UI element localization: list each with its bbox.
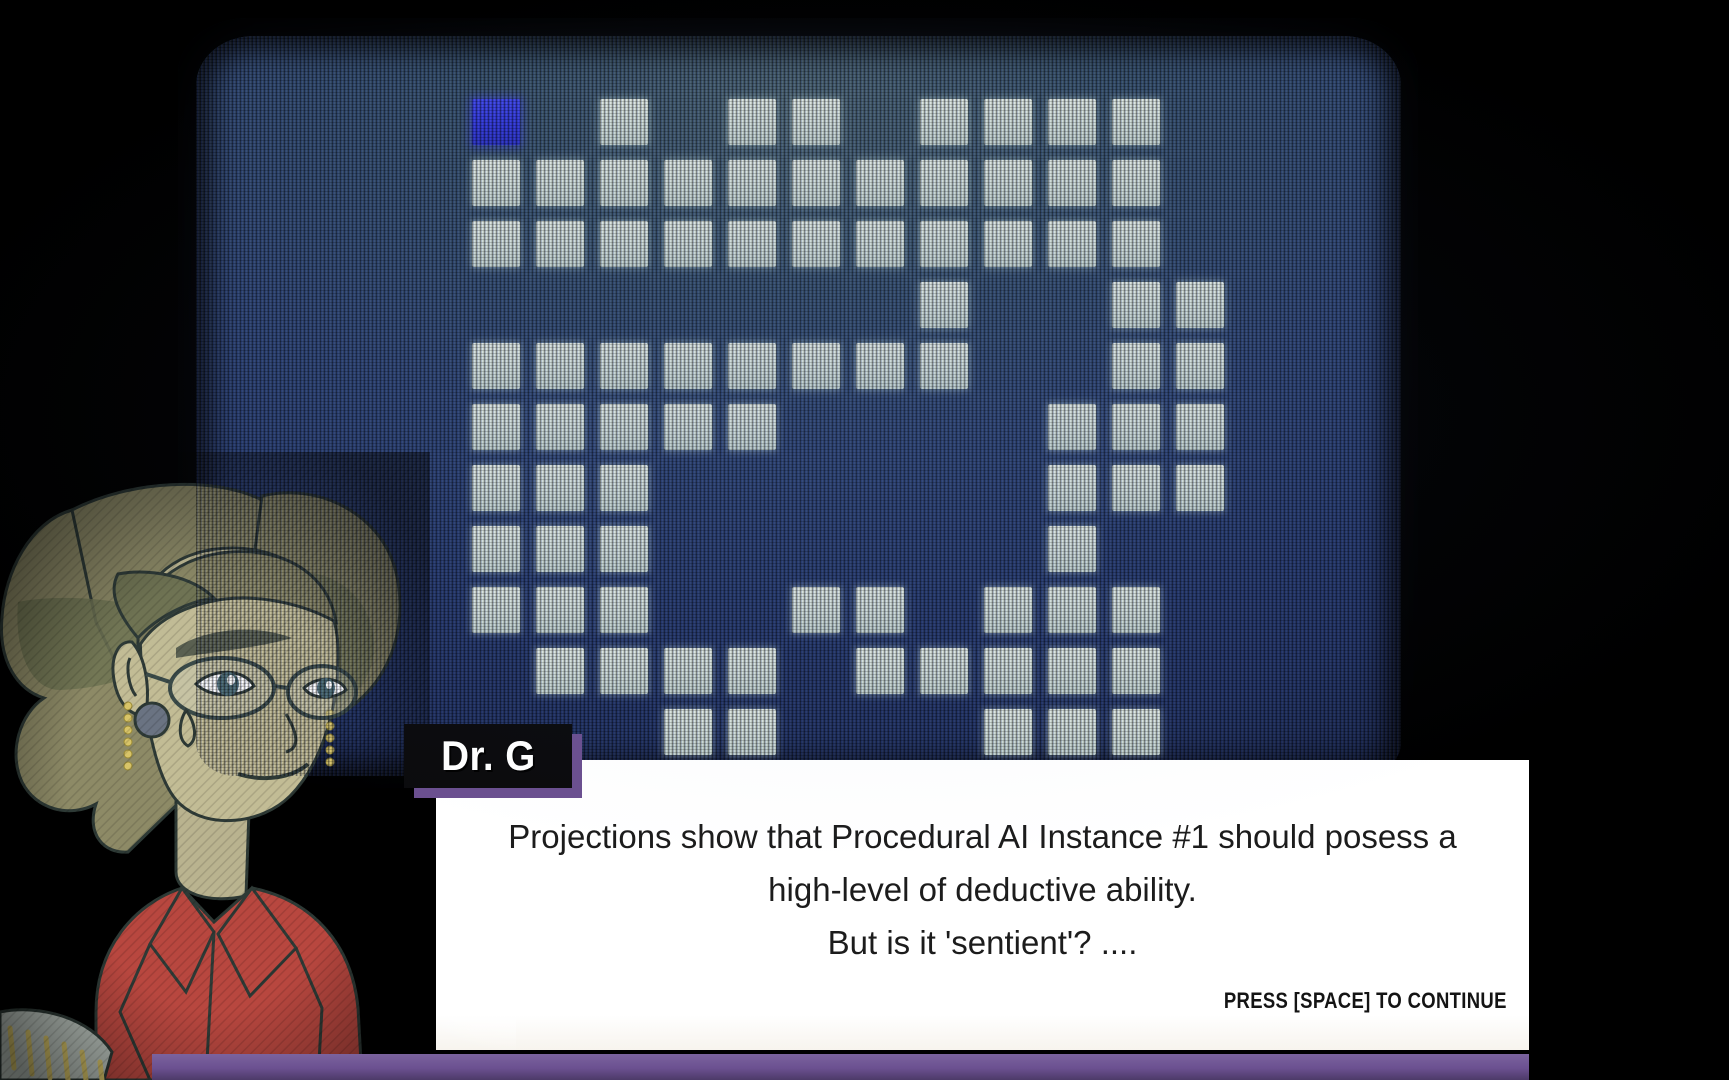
grid-cell-block [1048,587,1096,633]
grid-cell-empty [848,458,912,519]
grid-cell-block [600,526,648,572]
grid-cell-empty [848,275,912,336]
grid-cell-lit [784,214,848,275]
grid-cell-lit [464,458,528,519]
grid-cell-block [1112,99,1160,145]
grid-cell-lit [528,641,592,702]
grid-cell-lit [784,153,848,214]
grid-cell-empty [1232,580,1296,641]
grid-cell-block [728,221,776,267]
grid-cell-lit [592,397,656,458]
grid-cell-block [600,99,648,145]
grid-cell-lit [976,702,1040,763]
grid-cell-lit [592,641,656,702]
grid-cell-lit [1104,702,1168,763]
grid-cell-block [1048,160,1096,206]
grid-cell-empty [784,641,848,702]
grid-cell-lit [528,580,592,641]
grid-cell-empty [656,519,720,580]
grid-cell-empty [848,397,912,458]
grid-cell-empty [1232,397,1296,458]
grid-cell-block [1176,282,1224,328]
block-grid-display [464,92,1296,763]
grid-cell-empty [848,519,912,580]
grid-cell-lit [912,641,976,702]
grid-cell-lit [1104,275,1168,336]
grid-cell-block [1112,160,1160,206]
grid-cell-block [984,587,1032,633]
grid-cell-empty [656,275,720,336]
press-space-to-continue-prompt[interactable]: PRESS [SPACE] TO CONTINUE [1224,988,1507,1014]
grid-cell-lit [1168,275,1232,336]
grid-cell-empty [720,275,784,336]
grid-cell-lit [464,519,528,580]
grid-cell-lit [720,702,784,763]
grid-cell-lit [848,336,912,397]
grid-cell-block [1112,343,1160,389]
grid-cell-block [536,343,584,389]
grid-cell-empty [592,702,656,763]
grid-cell-empty [720,458,784,519]
grid-cell-lit [784,580,848,641]
grid-cell-block [472,160,520,206]
grid-cell-lit [528,458,592,519]
grid-cell-lit [784,336,848,397]
dialogue-line-3: But is it 'sentient'? .... [466,916,1499,969]
grid-cell-lit [1040,458,1104,519]
grid-cell-empty [1232,153,1296,214]
grid-cell-empty [720,580,784,641]
grid-cell-block [792,343,840,389]
grid-cell-lit [592,336,656,397]
grid-cell-block [792,160,840,206]
grid-cell-block [664,343,712,389]
grid-cell-lit [528,397,592,458]
grid-cell-block [1176,465,1224,511]
grid-cell-block [472,465,520,511]
grid-cell-lit [976,92,1040,153]
grid-cell-empty [784,397,848,458]
grid-cell-block [792,99,840,145]
grid-cell-empty [1232,702,1296,763]
grid-cell-lit [1040,641,1104,702]
grid-cell-lit [1040,153,1104,214]
grid-cell-empty [784,458,848,519]
grid-cell-block [1048,465,1096,511]
grid-cell-lit [528,214,592,275]
grid-cell-lit [720,153,784,214]
accent-bar-bottom [436,1054,1529,1080]
grid-cell-lit [1168,397,1232,458]
grid-cell-empty [464,275,528,336]
grid-cell-block [536,221,584,267]
grid-cell-block [1112,221,1160,267]
grid-cell-block [856,648,904,694]
grid-cell-empty [848,92,912,153]
grid-cell-empty [464,641,528,702]
grid-cell-lit [1040,580,1104,641]
grid-cell-block [984,648,1032,694]
grid-cell-block [664,221,712,267]
grid-cell-lit [528,336,592,397]
grid-cell-empty [976,458,1040,519]
grid-cell-block [920,648,968,694]
grid-cell-block [600,404,648,450]
grid-cell-lit [592,214,656,275]
grid-cell-block [920,160,968,206]
grid-cell-block [920,282,968,328]
grid-cell-lit [1168,336,1232,397]
grid-cell-lit [592,580,656,641]
grid-cell-empty [912,458,976,519]
grid-cell-empty [1104,519,1168,580]
grid-cell-block [1048,526,1096,572]
grid-cell-block [728,160,776,206]
grid-cell-lit [720,92,784,153]
grid-cell-empty [1040,275,1104,336]
grid-cell-lit [976,641,1040,702]
grid-cell-empty [1232,92,1296,153]
grid-cell-lit [464,214,528,275]
grid-cell-lit [1040,92,1104,153]
grid-cell-empty [976,397,1040,458]
grid-cell-lit [656,397,720,458]
grid-cell-lit [464,580,528,641]
grid-cell-block [536,648,584,694]
grid-cell-empty [976,519,1040,580]
grid-cell-lit [464,336,528,397]
grid-cell-block [984,709,1032,755]
grid-cell-lit [592,92,656,153]
grid-cell-block [600,465,648,511]
grid-cell-lit [1040,519,1104,580]
grid-cell-block [664,160,712,206]
grid-cell-empty [976,336,1040,397]
game-scene: Projections show that Procedural AI Inst… [0,0,1729,1080]
grid-cell-lit [1104,92,1168,153]
grid-cell-lit [976,580,1040,641]
grid-cell-empty [656,92,720,153]
grid-cell-lit [656,641,720,702]
grid-cell-empty [656,580,720,641]
grid-cell-lit [1040,702,1104,763]
grid-cell-block [728,343,776,389]
grid-cell-empty [1232,275,1296,336]
grid-cell-block [600,221,648,267]
grid-cell-block [536,404,584,450]
grid-cell-lit [912,336,976,397]
grid-cell-block [472,587,520,633]
grid-cell-lit [784,92,848,153]
grid-cell-lit [1104,214,1168,275]
grid-cell-block [984,99,1032,145]
grid-cell-block [1112,465,1160,511]
grid-cell-block [1048,221,1096,267]
grid-cell-lit [1168,458,1232,519]
grid-cell-block [1048,709,1096,755]
grid-cell-empty [656,458,720,519]
grid-cell-block [664,709,712,755]
grid-cell-block [1048,648,1096,694]
grid-cell-block [1112,587,1160,633]
grid-cell-empty [1232,458,1296,519]
grid-cell-block [728,648,776,694]
grid-cell-block [984,160,1032,206]
grid-cell-empty [912,519,976,580]
dialogue-text: Projections show that Procedural AI Inst… [436,810,1529,969]
grid-cell-lit [464,153,528,214]
grid-cell-lit [464,397,528,458]
grid-cell-lit [592,153,656,214]
grid-cell-lit [912,92,976,153]
grid-cell-lit [720,336,784,397]
grid-cell-block [920,99,968,145]
grid-cell-empty [592,275,656,336]
grid-cell-block [984,221,1032,267]
grid-cell-lit [912,275,976,336]
grid-cell-lit [848,153,912,214]
grid-cell-block [536,587,584,633]
grid-cell-block [856,587,904,633]
grid-cell-block [728,404,776,450]
grid-cell-block [600,648,648,694]
grid-cell-lit [592,458,656,519]
speaker-name-label: Dr. G [441,732,536,780]
grid-cell-block [536,465,584,511]
grid-cell-empty [784,275,848,336]
grid-cell-lit [912,153,976,214]
grid-cell-block [920,343,968,389]
grid-cell-empty [1168,519,1232,580]
grid-cell-lit [1104,458,1168,519]
grid-cell-lit [848,580,912,641]
grid-cell-empty [1168,153,1232,214]
grid-cell-empty [784,702,848,763]
grid-cell-empty [1168,641,1232,702]
grid-cell-lit [656,336,720,397]
grid-cell-block [472,221,520,267]
speaker-nameplate: Dr. G [404,724,572,788]
grid-cell-lit [1104,153,1168,214]
grid-cell-highlighted [464,92,528,153]
grid-cell-empty [1168,580,1232,641]
grid-cell-empty [912,580,976,641]
grid-cell-empty [1168,92,1232,153]
grid-cell-lit [528,519,592,580]
grid-cell-empty [848,702,912,763]
grid-cell-lit [1040,214,1104,275]
grid-cell-block [920,221,968,267]
dialogue-line-2: high-level of deductive ability. [466,863,1499,916]
grid-cell-block [856,160,904,206]
grid-cell-block [536,160,584,206]
grid-cell-empty [912,397,976,458]
grid-cell-block [792,587,840,633]
grid-cell-empty [1232,641,1296,702]
grid-cell-block [1112,282,1160,328]
grid-cell-lit [1104,580,1168,641]
grid-cell-block [472,404,520,450]
grid-cell-empty [528,92,592,153]
grid-cell-lit [848,214,912,275]
dialogue-box[interactable]: Projections show that Procedural AI Inst… [436,760,1529,1050]
grid-cell-block [472,343,520,389]
grid-cell-lit [1040,397,1104,458]
dialogue-line-1: Projections show that Procedural AI Inst… [466,810,1499,863]
grid-cell-empty [912,702,976,763]
grid-cell-empty [1168,214,1232,275]
grid-cell-block [1048,99,1096,145]
grid-cell-block [728,99,776,145]
grid-cell-block [856,343,904,389]
grid-cell-block [664,404,712,450]
grid-cell-lit [976,153,1040,214]
grid-cell-lit [656,153,720,214]
grid-cell-lit [976,214,1040,275]
grid-cell-empty [1232,214,1296,275]
grid-cell-lit [912,214,976,275]
grid-cell-block [664,648,712,694]
grid-cell-block [600,587,648,633]
grid-cell-block [472,99,520,145]
grid-cell-block [728,709,776,755]
grid-cell-lit [720,641,784,702]
grid-cell-block [1112,709,1160,755]
grid-cell-lit [656,214,720,275]
grid-cell-block [1112,404,1160,450]
grid-cell-empty [1232,519,1296,580]
grid-cell-block [1048,404,1096,450]
grid-cell-block [600,160,648,206]
grid-cell-lit [592,519,656,580]
grid-cell-block [856,221,904,267]
grid-cell-lit [528,153,592,214]
accent-bar-left [152,1054,442,1080]
grid-cell-empty [1168,702,1232,763]
grid-cell-empty [720,519,784,580]
grid-cell-block [472,526,520,572]
grid-cell-block [1112,648,1160,694]
grid-cell-empty [976,275,1040,336]
grid-cell-block [1176,343,1224,389]
nameplate-box: Dr. G [404,724,572,788]
grid-cell-empty [1040,336,1104,397]
grid-cell-lit [1104,397,1168,458]
grid-cell-lit [720,397,784,458]
grid-cell-lit [1104,641,1168,702]
grid-cell-block [536,526,584,572]
grid-cell-block [1176,404,1224,450]
grid-cell-empty [784,519,848,580]
grid-cell-empty [528,275,592,336]
grid-cell-block [600,343,648,389]
grid-cell-empty [1232,336,1296,397]
character-portrait-dr-g [0,452,430,1080]
grid-cell-block [792,221,840,267]
grid-cell-lit [656,702,720,763]
grid-cell-lit [720,214,784,275]
grid-cell-lit [1104,336,1168,397]
grid-cell-lit [848,641,912,702]
